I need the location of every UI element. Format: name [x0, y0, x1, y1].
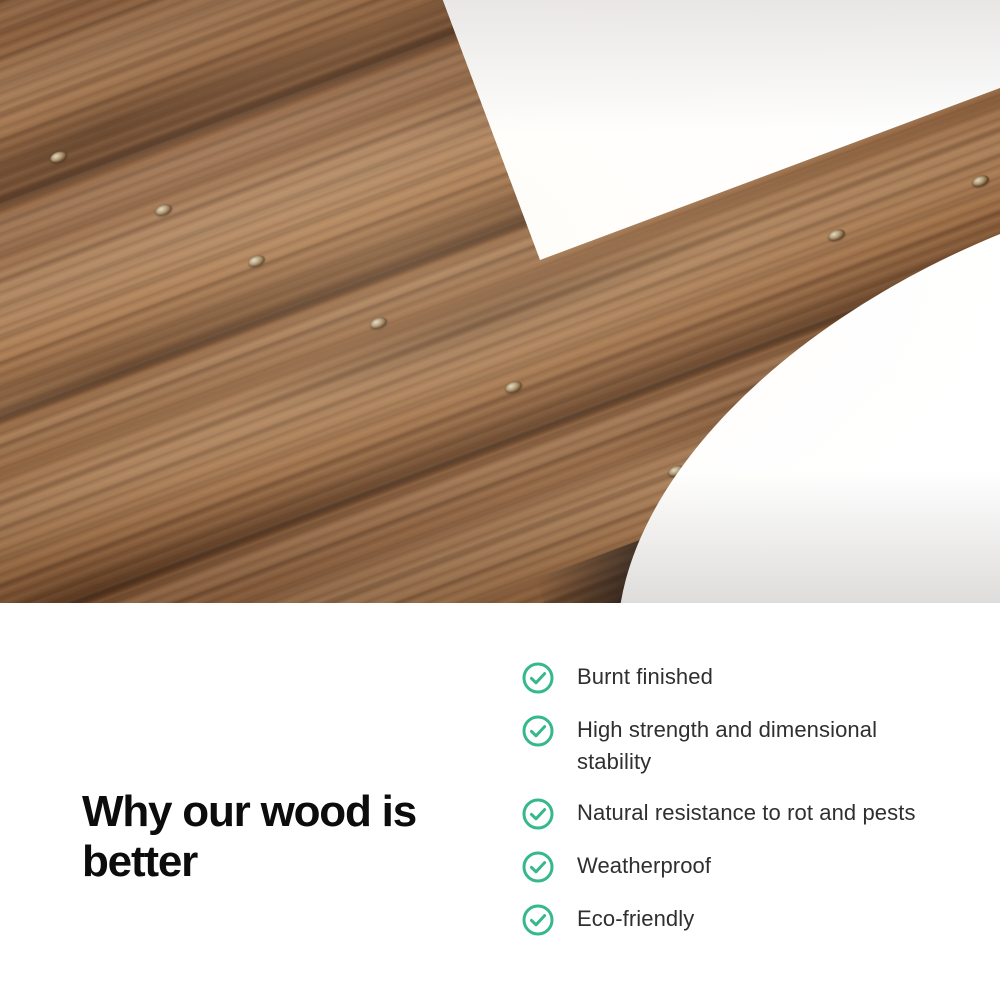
feature-label: Eco-friendly — [577, 902, 694, 935]
feature-content-panel: Why our wood is better Burnt finished — [0, 603, 1000, 1000]
feature-label: Burnt finished — [577, 660, 713, 693]
product-photo — [0, 0, 1000, 603]
list-item: Weatherproof — [521, 849, 961, 884]
feature-label: Natural resistance to rot and pests — [577, 796, 916, 829]
check-circle-icon — [521, 903, 555, 937]
list-item: Eco-friendly — [521, 902, 961, 937]
check-circle-icon — [521, 797, 555, 831]
product-feature-page: Why our wood is better Burnt finished — [0, 0, 1000, 1000]
feature-list: Burnt finished High strength and dimensi… — [521, 660, 961, 937]
list-item: Burnt finished — [521, 660, 961, 695]
feature-label: Weatherproof — [577, 849, 711, 882]
check-circle-icon — [521, 714, 555, 748]
check-circle-icon — [521, 850, 555, 884]
list-item: High strength and dimensional stability — [521, 713, 961, 778]
check-circle-icon — [521, 661, 555, 695]
list-item: Natural resistance to rot and pests — [521, 796, 961, 831]
feature-label: High strength and dimensional stability — [577, 713, 927, 778]
page-title: Why our wood is better — [82, 787, 482, 887]
